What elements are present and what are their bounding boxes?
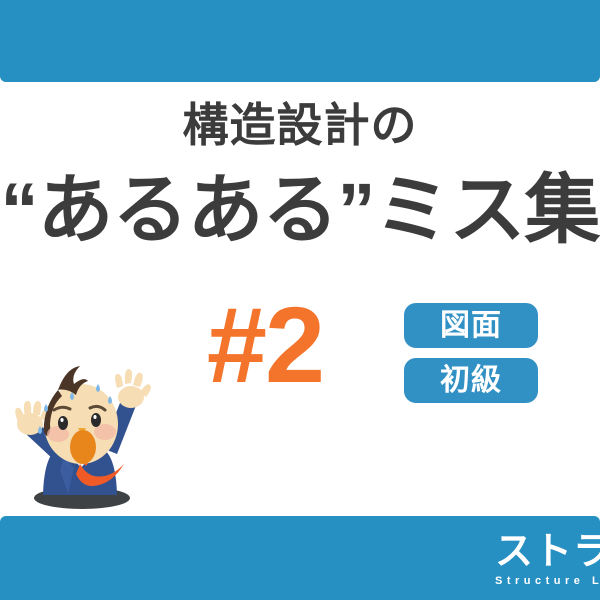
issue-number: #2 <box>160 286 370 404</box>
badge-level[interactable]: 初級 <box>404 358 538 403</box>
badge-category[interactable]: 図面 <box>404 303 538 348</box>
mascot-mouth-icon <box>70 430 96 464</box>
badge-group: 図面 初級 <box>404 303 538 413</box>
header-band <box>0 0 600 82</box>
headline-main: “あるある”ミス集 <box>0 166 600 256</box>
mascot-eye-left-icon <box>58 416 68 430</box>
brand-logo: ストラク Structure L <box>495 532 600 588</box>
thumbnail-canvas: 構造設計の “あるある”ミス集 #2 図面 初級 ストラク Structure … <box>0 0 600 600</box>
brand-logo-subtitle: Structure L <box>495 574 600 588</box>
mascot-sweat-drop-3-icon <box>108 396 112 404</box>
mascot-sweat-drop-2-icon <box>96 384 100 392</box>
mascot-illustration <box>6 352 156 512</box>
headline-group: 構造設計の <box>0 96 600 154</box>
brand-logo-mark: ストラク <box>495 532 600 572</box>
headline-eyebrow: 構造設計の <box>0 96 600 154</box>
mascot-sweat-drop-4-icon <box>44 404 48 412</box>
mascot-right-hand-icon <box>115 369 151 408</box>
mascot-eye-right-icon <box>91 413 101 427</box>
